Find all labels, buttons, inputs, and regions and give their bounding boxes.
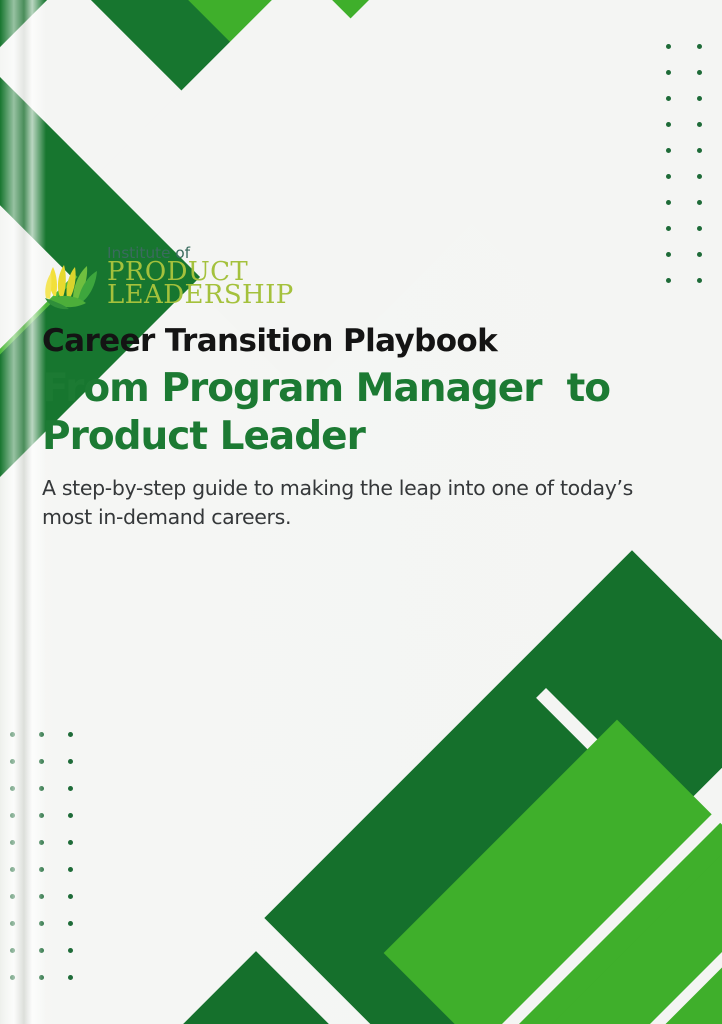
decor-dot — [666, 200, 671, 205]
decor-dot — [697, 226, 702, 231]
lotus-leaf-logo-icon — [42, 258, 100, 310]
decor-dot — [68, 948, 73, 953]
cover-subhead: A step-by-step guide to making the leap … — [42, 474, 682, 532]
decor-dot — [666, 174, 671, 179]
decor-dot — [666, 96, 671, 101]
decor-dot — [697, 148, 702, 153]
decor-dot — [666, 70, 671, 75]
decor-dot — [697, 252, 702, 257]
decor-dot — [39, 867, 44, 872]
decor-dot — [10, 786, 15, 791]
cover-content: Institute of PRODUCT LEADERSHIP Career T… — [42, 246, 682, 532]
cover-headline: From Program Manager to Product Leader — [42, 365, 662, 460]
decor-dot — [10, 894, 15, 899]
decor-dot — [68, 894, 73, 899]
decor-dot — [10, 732, 15, 737]
decor-dot — [68, 732, 73, 737]
decor-dot — [10, 813, 15, 818]
decor-dot-grid-bottom-left — [10, 732, 73, 980]
decor-dot — [10, 975, 15, 980]
decor-dot — [39, 786, 44, 791]
decor-dot — [666, 148, 671, 153]
decor-dot — [68, 921, 73, 926]
decor-dot — [697, 70, 702, 75]
decor-dot — [666, 226, 671, 231]
decor-dot — [68, 867, 73, 872]
brand-logo: Institute of PRODUCT LEADERSHIP — [42, 246, 682, 310]
decor-dot — [39, 894, 44, 899]
decor-dot — [697, 96, 702, 101]
decor-dot — [10, 948, 15, 953]
decor-dot — [39, 759, 44, 764]
decor-dot — [68, 786, 73, 791]
logo-line-leadership: LEADERSHIP — [107, 284, 294, 308]
decor-dot — [39, 948, 44, 953]
decor-dot — [68, 759, 73, 764]
decor-dot — [10, 867, 15, 872]
decor-dot — [697, 122, 702, 127]
decor-dot — [666, 122, 671, 127]
decor-dot — [10, 921, 15, 926]
brand-logo-wordmark: Institute of PRODUCT LEADERSHIP — [107, 246, 294, 310]
decor-dot — [39, 921, 44, 926]
decor-dot — [666, 44, 671, 49]
decor-dot — [68, 813, 73, 818]
decor-dot — [10, 840, 15, 845]
decor-dot — [697, 200, 702, 205]
decor-dot — [68, 975, 73, 980]
cover-kicker: Career Transition Playbook — [42, 324, 682, 359]
decor-dot — [697, 174, 702, 179]
decor-dot — [39, 975, 44, 980]
decor-dot — [697, 44, 702, 49]
decor-dot — [39, 840, 44, 845]
decor-dot — [39, 813, 44, 818]
document-cover-page: Institute of PRODUCT LEADERSHIP Career T… — [0, 0, 722, 1024]
decor-dot — [697, 278, 702, 283]
decor-dot — [10, 759, 15, 764]
decor-dot — [39, 732, 44, 737]
decor-dot — [68, 840, 73, 845]
